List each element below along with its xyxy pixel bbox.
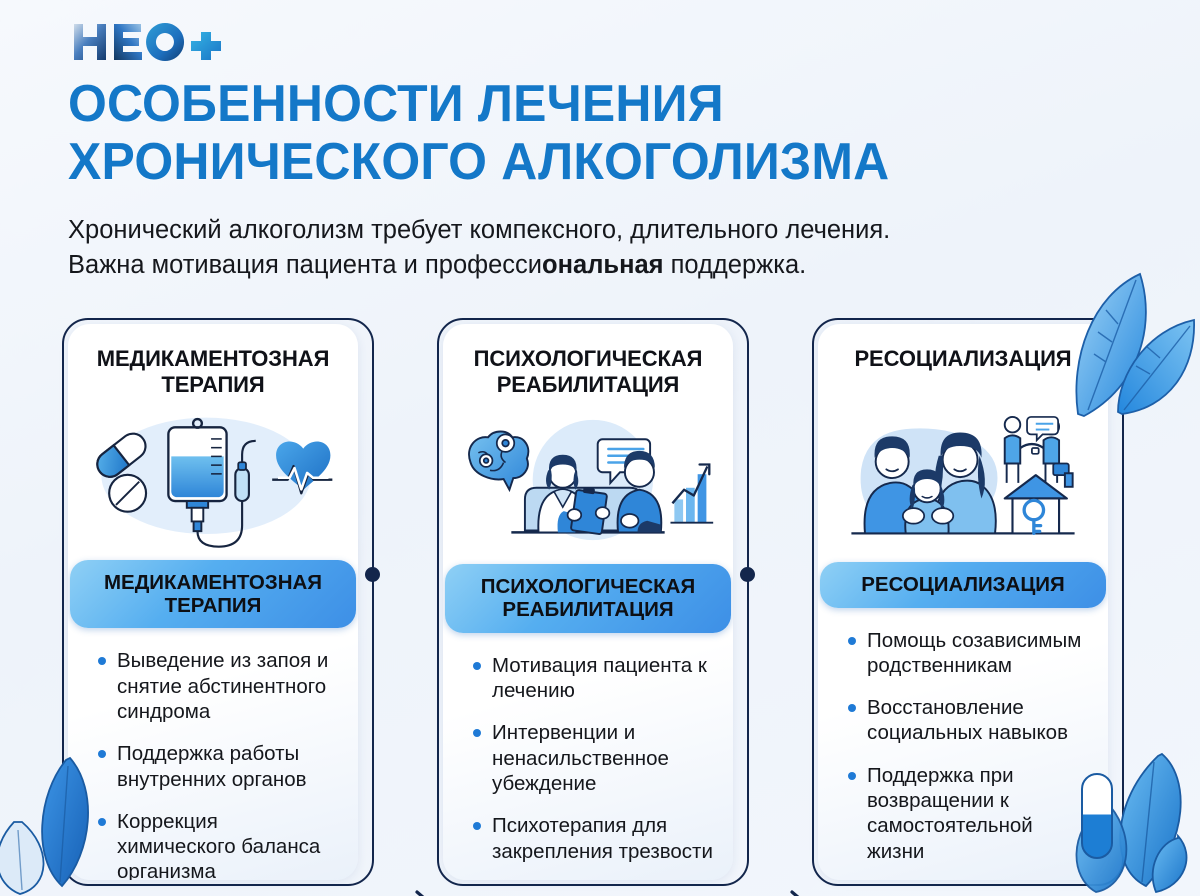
list-item: Интервенции и ненасильственное убеждение xyxy=(471,720,715,796)
therapy-session-illustration xyxy=(457,404,719,554)
card-psihologicheskaya-reabilitaciya[interactable]: ПСИХОЛОГИЧЕСКАЯ РЕАБИЛИТАЦИЯ xyxy=(437,318,749,886)
card-bullets: Выведение из запоя и снятие абстинентног… xyxy=(82,648,344,880)
iv-drip-pills-heart-illustration xyxy=(82,404,344,550)
neo-plus-logo: НЕО+ xyxy=(68,18,238,66)
card-badge[interactable]: МЕДИКАМЕНТОЗНАЯ ТЕРАПИЯ xyxy=(70,560,356,629)
card-heading: ПСИХОЛОГИЧЕСКАЯ РЕАБИЛИТАЦИЯ xyxy=(457,346,719,400)
subtitle-line-2: Важна мотивация пациента и профессиональ… xyxy=(68,248,1078,283)
card-heading: МЕДИКАМЕНТОЗНАЯ ТЕРАПИЯ xyxy=(82,346,344,400)
card-badge[interactable]: РЕСОЦИАЛИЗАЦИЯ xyxy=(820,562,1106,607)
logo-svg xyxy=(68,18,238,66)
page-title: ОСОБЕННОСТИ ЛЕЧЕНИЯ ХРОНИЧЕСКОГО АЛКОГОЛ… xyxy=(68,76,1138,191)
card-resocializaciya[interactable]: РЕСОЦИАЛИЗАЦИЯ xyxy=(812,318,1124,886)
card-bullets: Помощь созависимым родственникам Восстан… xyxy=(832,628,1094,865)
connector-dot xyxy=(365,567,380,582)
title-line-2: ХРОНИЧЕСКОГО АЛКОГОЛИЗМА xyxy=(68,134,1095,192)
subtitle-post: поддержка. xyxy=(664,251,807,279)
subtitle-bold: ональная xyxy=(542,251,664,279)
card-bullets: Мотивация пациента к лечению Интервенции… xyxy=(457,653,719,864)
cards-row: МЕДИКАМЕНТОЗНАЯ ТЕРАПИЯ xyxy=(0,318,1200,888)
list-item: Поддержка работы внутренних органов xyxy=(96,741,340,792)
arrow-card2-to-card3 xyxy=(756,880,818,896)
card-inner: ПСИХОЛОГИЧЕСКАЯ РЕАБИЛИТАЦИЯ xyxy=(443,324,733,880)
arrow-card1-to-card2 xyxy=(381,880,443,896)
page-subtitle: Хронический алкоголизм требует компексно… xyxy=(68,213,1078,282)
card-badge[interactable]: ПСИХОЛОГИЧЕСКАЯ РЕАБИЛИТАЦИЯ xyxy=(445,564,731,633)
list-item: Поддержка при возвращении к самостоятель… xyxy=(846,763,1090,864)
subtitle-pre: Важна мотивация пациента и професси xyxy=(68,251,542,279)
title-line-1: ОСОБЕННОСТИ ЛЕЧЕНИЯ xyxy=(68,76,1095,134)
list-item: Восстановление социальных навыков xyxy=(846,695,1090,746)
list-item: Коррекция химического баланса организма xyxy=(96,809,340,880)
subtitle-line-1: Хронический алкоголизм требует компексно… xyxy=(68,213,1078,248)
card-heading: РЕСОЦИАЛИЗАЦИЯ xyxy=(854,346,1071,400)
list-item: Выведение из запоя и снятие абстинентног… xyxy=(96,648,340,724)
card-inner: МЕДИКАМЕНТОЗНАЯ ТЕРАПИЯ xyxy=(68,324,358,880)
card-inner: РЕСОЦИАЛИЗАЦИЯ xyxy=(818,324,1108,880)
card-medicamentoznaya-terapiya[interactable]: МЕДИКАМЕНТОЗНАЯ ТЕРАПИЯ xyxy=(62,318,374,886)
list-item: Мотивация пациента к лечению xyxy=(471,653,715,704)
family-handshake-house-illustration xyxy=(832,404,1094,552)
list-item: Психотерапия для закрепления трезвости xyxy=(471,813,715,864)
connector-dot xyxy=(740,567,755,582)
list-item: Помощь созависимым родственникам xyxy=(846,628,1090,679)
